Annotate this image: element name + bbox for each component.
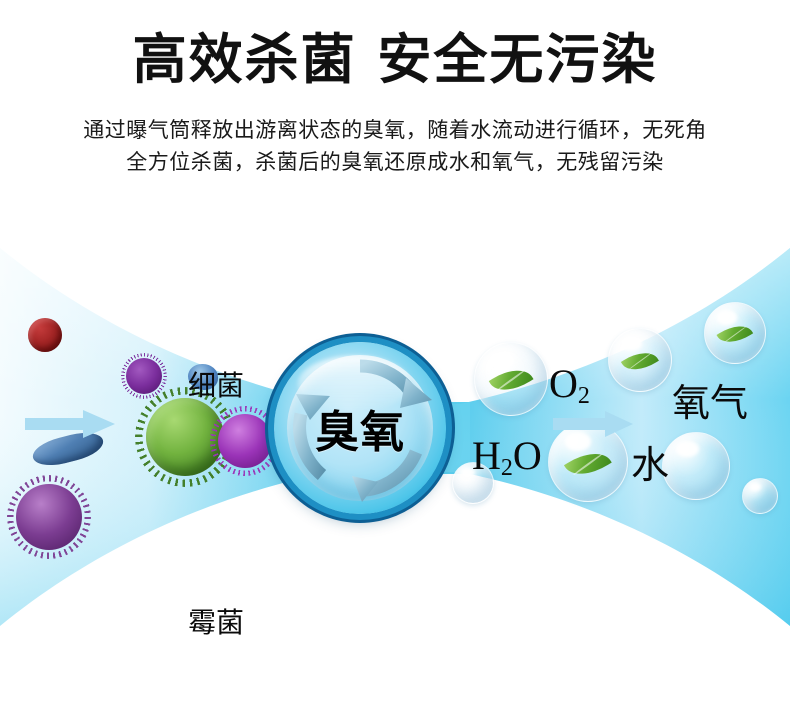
subtitle-line-2: 全方位杀菌，杀菌后的臭氧还原成水和氧气，无残留污染	[0, 146, 790, 178]
bubble-plain-1	[662, 432, 730, 500]
bubble-gloss	[717, 310, 737, 324]
germ-red	[28, 318, 62, 352]
formula-water-h: H	[472, 433, 501, 478]
ozone-label: 臭氧	[274, 342, 446, 514]
label-mold: 霉菌	[188, 601, 244, 641]
bubble-gloss	[750, 483, 762, 491]
germ-purple-large	[16, 484, 82, 550]
bubble-gloss	[621, 336, 642, 351]
label-water: 水	[631, 434, 669, 489]
bubble-gloss	[489, 352, 513, 369]
bubble-plain-3	[742, 478, 778, 514]
bubble-gloss	[676, 441, 698, 457]
ozone-circle: 臭氧	[274, 342, 446, 514]
sterilization-diagram: 霉菌 细菌	[0, 236, 790, 636]
formula-water-subscript: 2	[501, 455, 513, 481]
bubble-leaf-3	[704, 302, 766, 364]
label-bacteria: 细菌	[188, 364, 244, 404]
formula-oxygen: O2	[549, 360, 590, 407]
label-oxygen-gas: 氧气	[672, 372, 748, 427]
right-flow-arrow-icon	[553, 411, 633, 437]
left-flow-arrow-icon	[25, 410, 115, 438]
product-feature-banner: 高效杀菌 安全无污染 通过曝气筒释放出游离状态的臭氧，随着水流动进行循环，无死角…	[0, 0, 790, 706]
formula-oxygen-symbol: O	[549, 361, 578, 406]
page-title: 高效杀菌 安全无污染	[0, 30, 790, 89]
bubble-leaf-2	[608, 328, 672, 392]
formula-water: H2O	[472, 432, 542, 479]
bubble-leaf-1	[474, 342, 548, 416]
formula-water-o: O	[513, 433, 542, 478]
page-subtitle: 通过曝气筒释放出游离状态的臭氧，随着水流动进行循环，无死角 全方位杀菌，杀菌后的…	[0, 114, 790, 178]
germ-purple-small	[126, 358, 162, 394]
formula-oxygen-subscript: 2	[578, 383, 590, 409]
germ-purple-medium	[218, 414, 272, 468]
subtitle-line-1: 通过曝气筒释放出游离状态的臭氧，随着水流动进行循环，无死角	[0, 114, 790, 146]
